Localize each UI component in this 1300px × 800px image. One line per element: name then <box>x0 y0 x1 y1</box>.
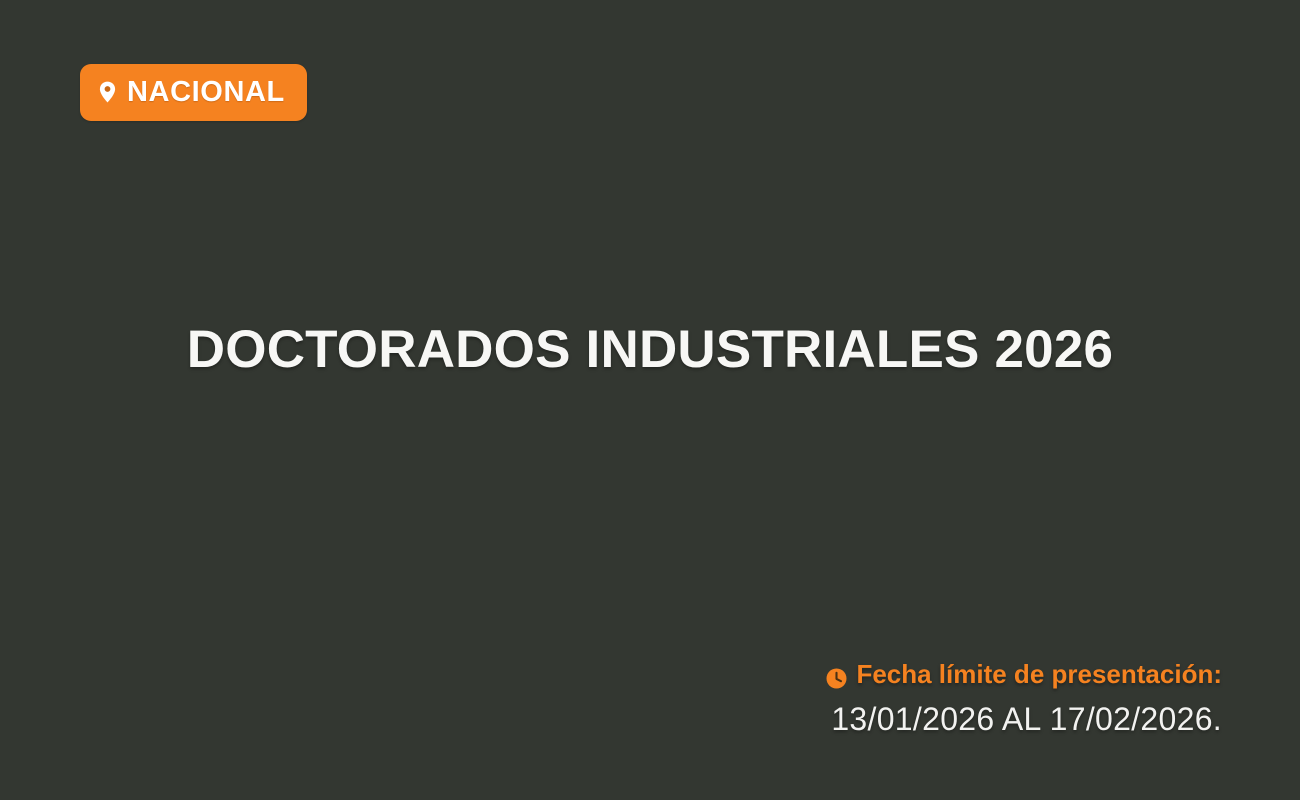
deadline-block: Fecha límite de presentación: 13/01/2026… <box>826 658 1222 738</box>
deadline-heading: Fecha límite de presentación: <box>826 658 1222 691</box>
deadline-heading-label: Fecha límite de presentación: <box>856 658 1222 691</box>
page-title: DOCTORADOS INDUSTRIALES 2026 <box>187 320 1113 379</box>
headline-container: DOCTORADOS INDUSTRIALES 2026 <box>0 320 1300 379</box>
scope-badge: NACIONAL <box>80 64 307 121</box>
announcement-card: NACIONAL DOCTORADOS INDUSTRIALES 2026 Fe… <box>0 0 1300 800</box>
scope-badge-label: NACIONAL <box>127 78 285 107</box>
map-pin-icon <box>99 81 116 103</box>
deadline-date-range: 13/01/2026 AL 17/02/2026. <box>826 700 1222 738</box>
clock-icon <box>826 664 847 685</box>
